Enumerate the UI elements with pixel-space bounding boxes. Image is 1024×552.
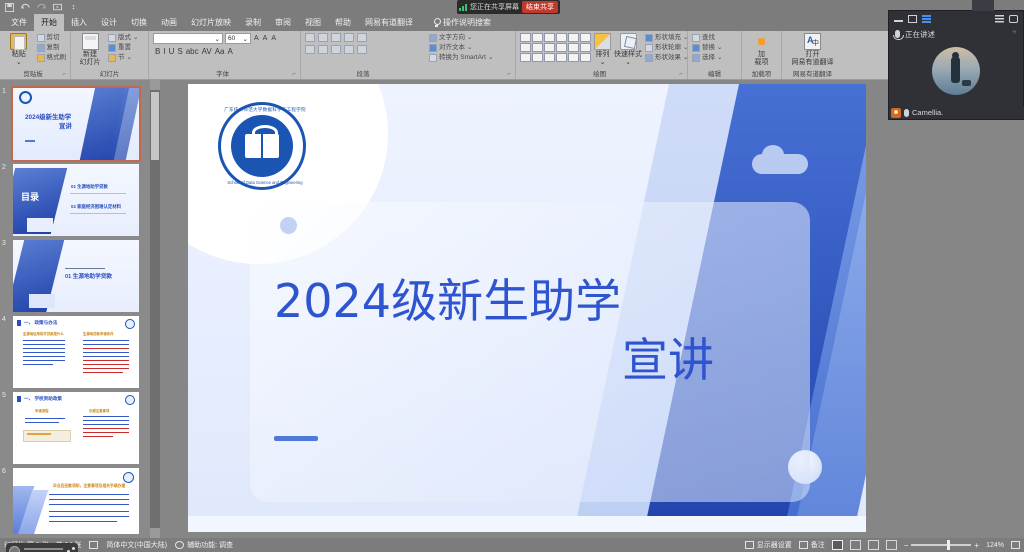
group-label-slides: 幻灯片 (75, 70, 144, 79)
convert-smartart-button[interactable]: 转换为 SmartArt⌄ (429, 54, 493, 62)
group-youdao: 打开 网易有道翻译 网易有道翻译 (781, 31, 843, 79)
select-icon (692, 54, 700, 62)
underline-button[interactable]: U (169, 47, 175, 56)
reading-view-button[interactable] (868, 540, 879, 550)
speaking-label: 正在讲述 (905, 29, 935, 40)
tab-home[interactable]: 开始 (34, 14, 64, 31)
participant-mic-icon[interactable] (904, 109, 909, 117)
thumb2-heading: 目录 (21, 190, 39, 203)
thumb2-item-2: 02 家庭经济困难认定材料 (71, 204, 121, 210)
tab-review[interactable]: 审阅 (268, 16, 298, 30)
dog-silhouette-icon (962, 80, 971, 86)
decrease-font-size-button[interactable]: A (262, 35, 269, 42)
copy-icon (37, 44, 45, 52)
slide-title-line-1: 2024级新生助学 (274, 274, 621, 328)
open-youdao-label-1: 打开 (806, 51, 820, 59)
shape-arrow-right-icon[interactable] (568, 43, 579, 52)
new-slide-label-2: 幻灯片 (80, 59, 101, 67)
shape-arc-icon[interactable] (544, 53, 555, 62)
toolbar-text-placeholder (24, 548, 63, 552)
font-color-button[interactable]: A (227, 47, 232, 56)
thumb1-title-1: 2024级新生助学 (25, 112, 71, 121)
zoom-track[interactable] (911, 544, 971, 546)
thumb-number-2: 2 (2, 164, 6, 171)
thumb2-item-1: 01 生源地助学贷款 (71, 184, 108, 190)
person-silhouette-icon (951, 57, 960, 83)
tab-design[interactable]: 设计 (94, 16, 124, 30)
bullets-icon[interactable] (305, 33, 315, 42)
ribbon[interactable]: 粘贴 ⌄ 剪切 复制 格式刷 剪贴板⌐ 新建 幻灯片 版式 (0, 31, 1024, 80)
customize-toolbar-icon[interactable] (69, 3, 78, 12)
columns-icon[interactable] (357, 45, 367, 54)
slide-accent-dot (280, 217, 297, 234)
strikethrough-button[interactable]: abc (186, 47, 199, 56)
search-icon (692, 34, 700, 42)
group-clipboard: 粘贴 ⌄ 剪切 复制 格式刷 剪贴板⌐ (0, 31, 70, 79)
translate-icon (804, 33, 821, 50)
reset-icon (108, 44, 116, 52)
get-addins-label-2: 载项 (755, 59, 769, 67)
tab-insert[interactable]: 插入 (64, 16, 94, 30)
addin-icon (753, 33, 770, 50)
thumbnail-slide-1[interactable]: 2024级新生助学 宣讲 (13, 88, 139, 160)
font-size-chevron-icon[interactable]: ⌄ (243, 35, 248, 43)
tab-slideshow[interactable]: 幻灯片放映 (184, 16, 238, 30)
notes-icon (799, 541, 808, 549)
speaking-status-row: 正在讲述 ❞ (889, 27, 1023, 41)
tab-transitions[interactable]: 切换 (124, 16, 154, 30)
smartart-chevron-icon[interactable]: ⌄ (488, 54, 493, 62)
shape-chevron-icon[interactable] (556, 53, 567, 62)
thumbnail-slide-3[interactable]: 01 生源地助学贷款 (13, 240, 139, 312)
shape-rectangle-icon[interactable] (568, 33, 579, 42)
quick-styles-chevron-icon[interactable]: ⌄ (625, 59, 631, 67)
shape-arrow-down-icon[interactable] (580, 43, 591, 52)
shape-square-icon[interactable] (520, 43, 531, 52)
thumb-number-3: 3 (2, 240, 6, 247)
title-bar: 您正在共享屏幕 结束共享 (0, 0, 1024, 14)
thumb4-heading: 一、 政策与办法 (24, 320, 57, 326)
new-slide-icon (82, 33, 99, 50)
section-chevron-icon[interactable]: ⌄ (127, 54, 132, 62)
shape-outline-label: 形状轮廓 (655, 44, 681, 52)
text-direction-button[interactable]: 文字方向⌄ (429, 34, 493, 42)
arrange-button[interactable]: 排列 ⌄ (594, 33, 611, 67)
align-text-chevron-icon[interactable]: ⌄ (467, 44, 472, 52)
cut-button[interactable]: 剪切 (37, 34, 67, 42)
thumb-number-5: 5 (2, 392, 6, 399)
chat-icon[interactable] (1009, 15, 1018, 23)
redo-icon[interactable] (37, 3, 46, 12)
select-button[interactable]: 选择⌄ (692, 54, 722, 62)
align-right-icon[interactable] (331, 45, 341, 54)
group-label-youdao: 网易有道翻译 (786, 70, 839, 79)
group-label-paragraph: 段落 (305, 70, 421, 79)
align-text-icon (429, 44, 437, 52)
accessibility-label: 辅助功能: 调查 (187, 540, 233, 550)
microphone-icon (895, 30, 900, 38)
participant-avatar (891, 108, 901, 118)
replace-icon (692, 44, 700, 52)
thumbnail-toggle-button[interactable] (89, 541, 98, 549)
increase-indent-icon[interactable] (344, 33, 354, 42)
ribbon-tab-bar[interactable]: 文件 开始 插入 设计 切换 动画 幻灯片放映 录制 审阅 视图 帮助 网易有道… (0, 14, 1024, 31)
scrollbar-thumb[interactable] (151, 92, 159, 160)
restore-icon[interactable] (908, 15, 917, 23)
thumb6-heading: 毕业后还款须知，注意事项及相关手续办理 (53, 484, 125, 489)
line-spacing-icon[interactable] (357, 33, 367, 42)
thumbnail-slide-4[interactable]: 一、 政策与办法 生源地信用助学贷款是什么 生源地贷款申请条件 (13, 316, 139, 388)
clear-formatting-button[interactable]: A (270, 35, 277, 42)
tab-file[interactable]: 文件 (4, 16, 34, 30)
thumbnail-list[interactable]: 1 2024级新生助学 宣讲 2 目录 0 (0, 80, 150, 538)
share-icon[interactable] (67, 547, 75, 552)
decrease-indent-icon[interactable] (331, 33, 341, 42)
new-slide-label-1: 新建 (83, 51, 97, 59)
shape-effects-label: 形状效果 (655, 54, 681, 62)
zoom-slider[interactable]: − + (904, 541, 979, 550)
shape-freeform-icon[interactable] (520, 53, 531, 62)
thumb-number-6: 6 (2, 468, 6, 475)
tab-animations[interactable]: 动画 (154, 16, 184, 30)
shape-curve-icon[interactable] (556, 43, 567, 52)
record-circle-icon[interactable] (9, 546, 20, 552)
thumb-number-4: 4 (2, 316, 6, 323)
university-emblem: 广东技术师范大学数据科学与工程学院 School of Data Science… (216, 100, 308, 192)
group-slides: 新建 幻灯片 版式⌄ 重置 节⌄ 幻灯片 (70, 31, 148, 79)
group-editing: 查找 替换⌄ 选择⌄ 编辑 (687, 31, 741, 79)
shape-rect-rounded-icon[interactable] (532, 33, 543, 42)
slide-editing-stage[interactable]: 广东技术师范大学数据科学与工程学院 School of Data Science… (160, 80, 1024, 538)
shapes-gallery[interactable] (520, 33, 591, 62)
signal-strength-icon (459, 3, 467, 11)
thumb3-heading: 01 生源地助学贷款 (65, 272, 112, 280)
thumb5-left-title: 申请流程 (35, 408, 49, 413)
tab-record[interactable]: 录制 (238, 16, 268, 30)
shape-scribble-icon[interactable] (532, 53, 543, 62)
group-paragraph-extra: 文字方向⌄ 对齐文本⌄ 转换为 SmartArt⌄ ⌐ (425, 31, 515, 79)
shape-fill-button[interactable]: 形状填充⌄ (645, 34, 688, 42)
shape-arrow-icon[interactable] (556, 33, 567, 42)
cut-label: 剪切 (47, 34, 60, 42)
quote-icon: ❞ (1012, 29, 1017, 40)
language-indicator[interactable]: 简体中文(中国大陆) (106, 540, 167, 550)
increase-font-size-button[interactable]: A (253, 35, 260, 42)
slide-bottom-strip (188, 516, 866, 532)
quick-access-toolbar[interactable] (0, 3, 78, 12)
thumb5-right-title: 办理注意事项 (89, 408, 109, 413)
paste-chevron-icon[interactable]: ⌄ (16, 59, 22, 67)
replace-button[interactable]: 替换⌄ (692, 44, 722, 52)
zoom-knob[interactable] (947, 540, 950, 550)
quick-styles-icon (620, 33, 637, 50)
layout-chevron-icon[interactable]: ⌄ (133, 34, 138, 42)
thumbnail-slide-6[interactable]: 毕业后还款须知，注意事项及相关手续办理 (13, 468, 139, 534)
screen-share-indicator: 您正在共享屏幕 结束共享 (457, 0, 560, 14)
floating-context-toolbar[interactable] (6, 543, 78, 552)
group-font: ⌄ 60⌄ A A A B I U S abc AV Aa A 字体⌐ (148, 31, 300, 79)
thumbnail-scrollbar[interactable] (150, 80, 160, 538)
emblem-english-text: School of Data Science and Engineering (221, 180, 309, 185)
section-icon (108, 54, 116, 62)
shape-elbow-icon[interactable] (544, 43, 555, 52)
group-label-drawing: 绘图⌐ (520, 70, 683, 79)
group-label-font: 字体⌐ (153, 70, 296, 79)
thumbnail-slide-2[interactable]: 目录 01 生源地助学贷款 02 家庭经济困难认定材料 (13, 164, 139, 236)
arrange-chevron-icon[interactable]: ⌄ (600, 59, 606, 67)
find-label: 查找 (702, 34, 715, 42)
group-label-clipboard: 剪贴板⌐ (4, 70, 66, 79)
emblem-chinese-text: 广东技术师范大学数据科学与工程学院 (221, 107, 309, 113)
zoom-in-button[interactable]: + (974, 541, 979, 550)
undo-icon[interactable] (21, 3, 30, 12)
fit-to-window-button[interactable] (1011, 541, 1020, 549)
change-case-button[interactable]: Aa (215, 47, 225, 56)
arrange-label: 排列 (596, 51, 610, 59)
find-button[interactable]: 查找 (692, 34, 722, 42)
open-youdao-button[interactable]: 打开 网易有道翻译 (786, 33, 839, 67)
notes-label: 备注 (811, 540, 825, 550)
tell-me-box[interactable]: 操作说明搜索 (426, 15, 498, 30)
group-label-editing: 编辑 (692, 70, 737, 79)
select-label: 选择 (702, 54, 715, 62)
font-size-value: 60 (228, 35, 235, 42)
book-icon (245, 134, 279, 158)
scissors-icon (37, 34, 45, 42)
align-center-icon[interactable] (318, 45, 328, 54)
section-label: 节 (118, 54, 125, 62)
new-slide-button[interactable]: 新建 幻灯片 (75, 33, 105, 67)
section-button[interactable]: 节⌄ (108, 54, 138, 62)
thumbnail-slide-5[interactable]: 一、 学校资助政策 申请流程 办理注意事项 (13, 392, 139, 464)
replace-label: 替换 (702, 44, 715, 52)
status-bar[interactable]: 幻灯片 第 1 张，共 14 张 简体中文(中国大陆) 辅助功能: 调查 显示器… (0, 538, 1024, 552)
slide-thumbnail-pane[interactable]: 1 2024级新生助学 宣讲 2 目录 0 (0, 80, 160, 538)
align-text-label: 对齐文本 (439, 44, 465, 52)
paste-icon (10, 33, 27, 50)
notes-button[interactable]: 备注 (799, 540, 825, 550)
copy-label: 复制 (47, 44, 60, 52)
quick-styles-button[interactable]: 快速样式 ⌄ (614, 33, 642, 67)
shape-brace-left-icon[interactable] (568, 53, 579, 62)
normal-view-button[interactable] (832, 540, 843, 550)
share-status-text: 您正在共享屏幕 (470, 2, 519, 12)
bold-button[interactable]: B (155, 47, 160, 56)
get-addins-label-1: 加 (758, 51, 765, 59)
clipboard-dialog-launcher[interactable]: ⌐ (62, 70, 66, 79)
layout-button[interactable]: 版式⌄ (108, 34, 138, 42)
status-bar-right[interactable]: 显示器设置 备注 − + 124% (745, 540, 1020, 550)
quick-styles-label: 快速样式 (614, 51, 642, 59)
shape-outline-icon (645, 44, 653, 52)
convert-smartart-label: 转换为 SmartArt (439, 54, 486, 62)
shape-textbox-icon[interactable] (520, 33, 531, 42)
smartart-icon (429, 54, 437, 62)
minimize-icon[interactable] (894, 16, 903, 22)
text-direction-icon (429, 34, 437, 42)
shape-triangle-icon[interactable] (532, 43, 543, 52)
accessibility-icon (175, 541, 184, 549)
thumb4-right-title: 生源地贷款申请条件 (83, 331, 114, 336)
meeting-window-tab[interactable] (972, 0, 994, 11)
participants-icon[interactable] (995, 15, 1004, 23)
font-name-chevron-icon[interactable]: ⌄ (215, 35, 220, 43)
shape-effects-button[interactable]: 形状效果⌄ (645, 54, 688, 62)
arrange-icon (594, 33, 611, 50)
display-settings-button[interactable]: 显示器设置 (745, 540, 792, 550)
font-size-input[interactable]: 60⌄ (225, 33, 251, 44)
participant-name: Camellia. (912, 108, 943, 117)
shape-line-icon[interactable] (544, 33, 555, 42)
tell-me-label: 操作说明搜索 (443, 19, 491, 27)
display-settings-label: 显示器设置 (757, 540, 792, 550)
paintbrush-icon (37, 54, 45, 62)
justify-icon[interactable] (344, 45, 354, 54)
thumb4-left-title: 生源地信用助学贷款是什么 (23, 331, 64, 336)
paste-button[interactable]: 粘贴 ⌄ (4, 33, 34, 67)
group-label-addins: 加载项 (746, 70, 777, 79)
font-dialog-launcher[interactable]: ⌐ (292, 70, 296, 79)
scroll-down-button[interactable] (150, 528, 160, 538)
italic-button[interactable]: I (163, 47, 165, 56)
reset-button[interactable]: 重置 (108, 44, 138, 52)
group-label-paragraph-extra: ⌐ (429, 70, 511, 79)
layout-label: 版式 (118, 34, 131, 42)
paste-label: 粘贴 (12, 51, 26, 59)
shape-fill-label: 形状填充 (655, 34, 681, 42)
speaker-video-area (889, 41, 1023, 101)
zoom-out-button[interactable]: − (904, 541, 909, 550)
reset-label: 重置 (118, 44, 131, 52)
slide-title-textbox[interactable]: 2024级新生助学 宣讲 (274, 272, 714, 390)
replace-chevron-icon[interactable]: ⌄ (717, 44, 722, 52)
start-presentation-icon[interactable] (53, 3, 62, 12)
get-addins-button[interactable]: 加 载项 (747, 33, 777, 67)
thumb1-title-2: 宣讲 (59, 121, 72, 130)
align-left-icon[interactable] (305, 45, 315, 54)
zoom-level-label[interactable]: 124% (986, 542, 1004, 549)
group-paragraph: 段落 (300, 31, 425, 79)
group-addins: 加 载项 加载项 (741, 31, 781, 79)
copy-button[interactable]: 复制 (37, 44, 67, 52)
slide-sorter-view-button[interactable] (850, 540, 861, 550)
avatar (932, 47, 980, 95)
select-chevron-icon[interactable]: ⌄ (717, 54, 722, 62)
open-youdao-label-2: 网易有道翻译 (792, 59, 834, 67)
participant-row[interactable]: Camellia. (889, 106, 1024, 119)
text-shadow-button[interactable]: S (177, 47, 182, 56)
slide-cloud-shape (752, 154, 808, 174)
shape-brace-right-icon[interactable] (580, 53, 591, 62)
slide-title-line-2: 宣讲 (274, 331, 714, 390)
meeting-panel[interactable]: 正在讲述 ❞ Camellia. (888, 10, 1024, 120)
drawing-dialog-launcher[interactable]: ⌐ (679, 70, 683, 79)
layout-icon (108, 34, 116, 42)
text-direction-chevron-icon[interactable]: ⌄ (467, 34, 472, 42)
group-drawing: 排列 ⌄ 快速样式 ⌄ 形状填充⌄ 形状轮廓⌄ 形状效果⌄ 绘图⌐ (515, 31, 687, 79)
emblem-center (231, 115, 293, 177)
slideshow-view-button[interactable] (886, 540, 897, 550)
lightbulb-icon (433, 18, 440, 27)
tab-view[interactable]: 视图 (298, 16, 328, 30)
numbering-icon[interactable] (318, 33, 328, 42)
shape-fill-icon (645, 34, 653, 42)
shape-outline-button[interactable]: 形状轮廓⌄ (645, 44, 688, 52)
align-text-button[interactable]: 对齐文本⌄ (429, 44, 493, 52)
thumbnail-icon (89, 541, 98, 549)
tab-youdao[interactable]: 网易有道翻译 (358, 16, 420, 30)
font-name-input[interactable]: ⌄ (153, 33, 223, 44)
format-painter-label: 格式刷 (47, 54, 67, 62)
tab-help[interactable]: 帮助 (328, 16, 358, 30)
accessibility-status[interactable]: 辅助功能: 调查 (175, 540, 233, 550)
slide-title-underline (274, 436, 318, 441)
end-share-button[interactable]: 结束共享 (522, 1, 558, 13)
powerpoint-window: 您正在共享屏幕 结束共享 文件 开始 插入 设计 切换 动画 幻灯片放映 录制 … (0, 0, 1024, 552)
shape-effects-icon (645, 54, 653, 62)
current-slide[interactable]: 广东技术师范大学数据科学与工程学院 School of Data Science… (188, 84, 866, 532)
format-painter-button[interactable]: 格式刷 (37, 54, 67, 62)
display-settings-icon (745, 541, 754, 549)
character-spacing-button[interactable]: AV (202, 47, 212, 56)
list-icon[interactable] (922, 15, 931, 23)
thumb5-heading: 一、 学校资助政策 (24, 396, 62, 402)
thumb-number-1: 1 (2, 88, 6, 95)
text-direction-label: 文字方向 (439, 34, 465, 42)
save-icon[interactable] (5, 3, 14, 12)
paragraph-dialog-launcher[interactable]: ⌐ (507, 70, 511, 79)
scroll-up-button[interactable] (150, 80, 160, 90)
shape-oval-icon[interactable] (580, 33, 591, 42)
meeting-panel-toolbar[interactable] (889, 11, 1023, 27)
